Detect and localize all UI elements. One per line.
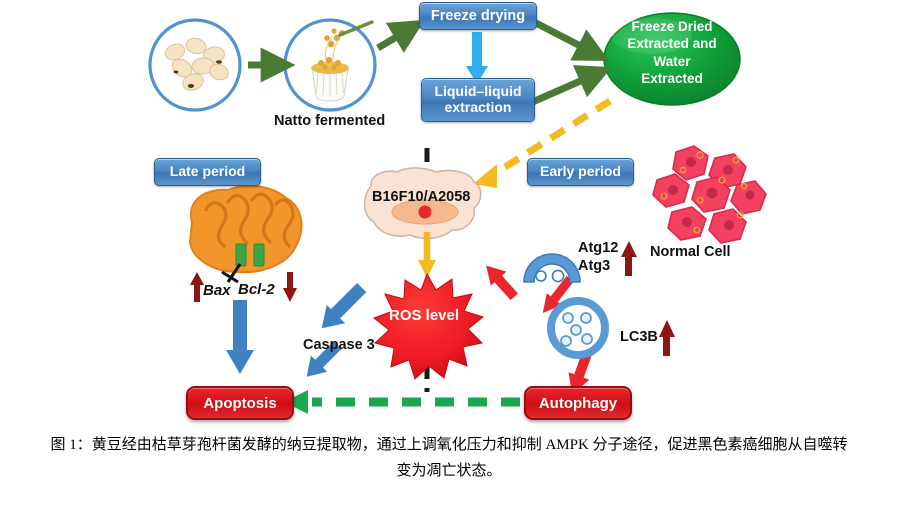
pathway-diagram: Freeze drying Liquid–liquid extraction F… — [0, 0, 898, 430]
natto-fermented-label: Natto fermented — [274, 113, 385, 129]
autophagy-box[interactable]: Autophagy — [524, 386, 632, 420]
liquid-liquid-extraction-label: Liquid–liquid extraction — [434, 84, 521, 115]
product-label: Freeze Dried Extracted and Water Extract… — [612, 18, 732, 87]
late-period-box[interactable]: Late period — [154, 158, 261, 186]
atg3-label: Atg3 — [578, 258, 610, 274]
lc3b-up-arrow — [659, 320, 675, 356]
bax-label: Bax — [203, 282, 231, 299]
caption-line-2: 变为凋亡状态。 — [8, 458, 890, 484]
cell-to-ros-arrow — [418, 232, 436, 278]
lc3b-label: LC3B — [620, 329, 658, 345]
cancer-cell-label: B16F10/A2058 — [372, 189, 470, 205]
bcl2-down-arrow — [283, 272, 297, 302]
phagophore-illustration — [524, 254, 580, 282]
autophagy-to-apoptosis-dashed-arrow — [284, 390, 520, 414]
soybean-illustration — [150, 20, 240, 110]
atg-up-arrow — [621, 241, 637, 276]
normal-cell-cluster — [653, 146, 766, 243]
late-period-label: Late period — [170, 164, 245, 180]
ros-starburst — [374, 274, 483, 379]
caption-line-1: 图 1：黄豆经由枯草芽孢杆菌发酵的纳豆提取物，通过上调氧化压力和抑制 AMPK … — [8, 432, 890, 458]
liquid-liquid-extraction-box[interactable]: Liquid–liquid extraction — [421, 78, 535, 122]
early-period-box[interactable]: Early period — [527, 158, 634, 186]
early-period-label: Early period — [540, 164, 621, 180]
ros-level-label: ROS level — [389, 307, 459, 324]
freeze-to-extraction-arrow — [466, 32, 488, 84]
diagram-canvas — [0, 0, 898, 430]
atg12-label: Atg12 — [578, 240, 618, 256]
mitochondria-illustration — [190, 186, 301, 282]
natto-illustration — [285, 20, 375, 110]
bcl2-label: Bcl-2 — [238, 281, 275, 298]
apoptosis-label: Apoptosis — [203, 395, 276, 412]
figure-caption: 图 1：黄豆经由枯草芽孢杆菌发酵的纳豆提取物，通过上调氧化压力和抑制 AMPK … — [0, 432, 898, 485]
freeze-drying-box[interactable]: Freeze drying — [419, 2, 537, 30]
freeze-drying-label: Freeze drying — [431, 8, 525, 24]
bax-up-arrow — [190, 272, 204, 302]
normal-cell-label: Normal Cell — [650, 244, 731, 260]
autophagy-label: Autophagy — [539, 395, 617, 412]
apoptosis-box[interactable]: Apoptosis — [186, 386, 294, 420]
autophagosome-illustration — [551, 301, 605, 355]
caspase3-label: Caspase 3 — [303, 337, 375, 353]
